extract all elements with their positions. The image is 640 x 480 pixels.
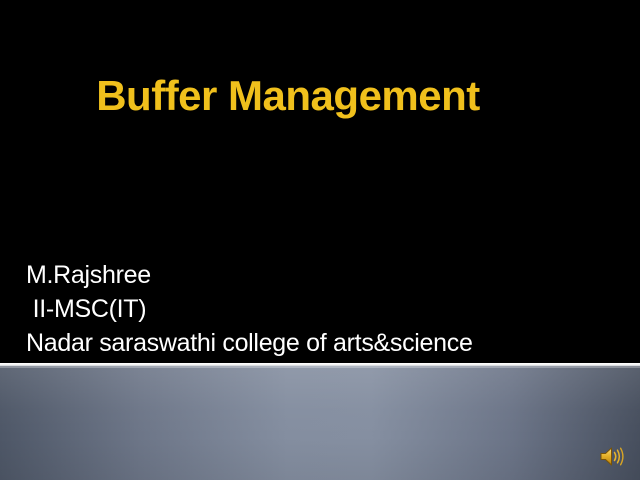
subtitle-line-institution: Nadar saraswathi college of arts&science bbox=[26, 326, 616, 360]
slide-subtitle: M.Rajshree II-MSC(IT) Nadar saraswathi c… bbox=[26, 258, 616, 360]
subtitle-line-course: II-MSC(IT) bbox=[26, 292, 616, 326]
subtitle-line-author: M.Rajshree bbox=[26, 258, 616, 292]
footer-gradient-band bbox=[0, 366, 640, 480]
slide-title: Buffer Management bbox=[0, 70, 576, 122]
presentation-slide: Buffer Management M.Rajshree II-MSC(IT) … bbox=[0, 0, 640, 480]
speaker-icon[interactable] bbox=[598, 444, 628, 470]
slide-content-area: Buffer Management M.Rajshree II-MSC(IT) … bbox=[0, 0, 640, 364]
